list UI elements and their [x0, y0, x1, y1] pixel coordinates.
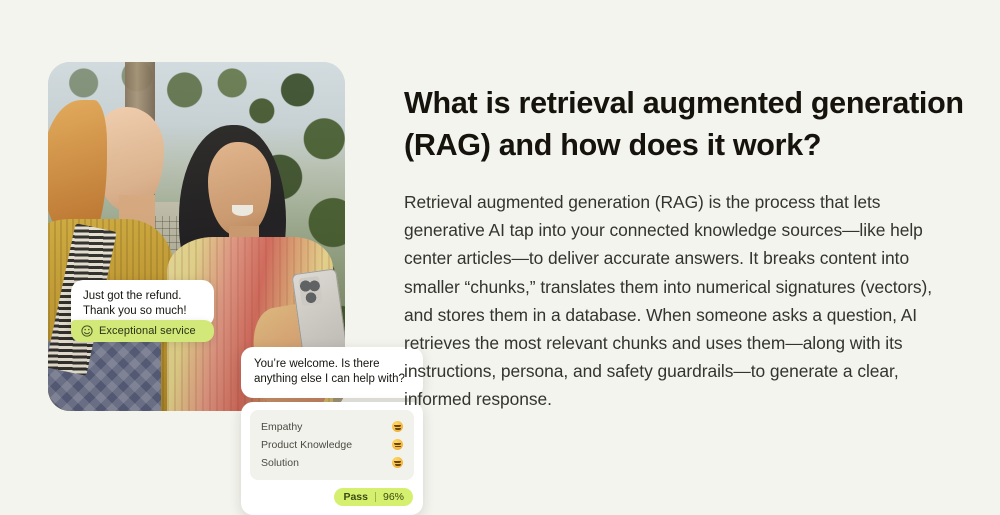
status-badge: Exceptional service	[71, 320, 214, 342]
pass-status-label: Pass	[343, 491, 368, 503]
photo-smartphone-camera-icon	[299, 275, 323, 306]
scorecard-row: Solution	[261, 455, 403, 470]
agent-message-bubble: You’re welcome. Is there anything else I…	[241, 347, 423, 398]
status-badge-label: Exceptional service	[99, 325, 196, 337]
article-body: Retrieval augmented generation (RAG) is …	[404, 188, 964, 414]
scorecard-result-row: Pass 96%	[250, 488, 414, 506]
media-column: Just got the refund. Thank you so much! …	[48, 62, 345, 411]
article-text-column: What is retrieval augmented generation (…	[404, 82, 974, 414]
customer-message-line-1: Just got the refund.	[83, 289, 202, 304]
scorecard-criteria-panel: Empathy Product Knowledge Solution	[250, 410, 414, 480]
agent-message-line-1: You’re welcome. Is there	[254, 357, 410, 372]
scorecard-row: Empathy	[261, 419, 403, 434]
pass-score-value: 96%	[383, 491, 404, 503]
customer-message-line-2: Thank you so much!	[83, 304, 202, 319]
smiley-face-icon	[81, 325, 93, 337]
photo-person-right-smile	[232, 205, 253, 215]
badge-divider	[375, 492, 376, 502]
neutral-face-icon	[392, 439, 403, 450]
agent-message-line-2: anything else I can help with?	[254, 372, 410, 387]
grinning-face-icon	[392, 457, 403, 468]
quality-scorecard: Empathy Product Knowledge Solution Pass …	[241, 402, 423, 515]
page-title: What is retrieval augmented generation (…	[404, 82, 974, 166]
pass-score-badge: Pass 96%	[334, 488, 413, 506]
scorecard-criterion-label: Product Knowledge	[261, 439, 352, 451]
article-hero-section: Just got the refund. Thank you so much! …	[0, 0, 1000, 515]
scorecard-criterion-label: Solution	[261, 457, 299, 469]
scorecard-criterion-label: Empathy	[261, 421, 302, 433]
scorecard-row: Product Knowledge	[261, 437, 403, 452]
grinning-face-icon	[392, 421, 403, 432]
